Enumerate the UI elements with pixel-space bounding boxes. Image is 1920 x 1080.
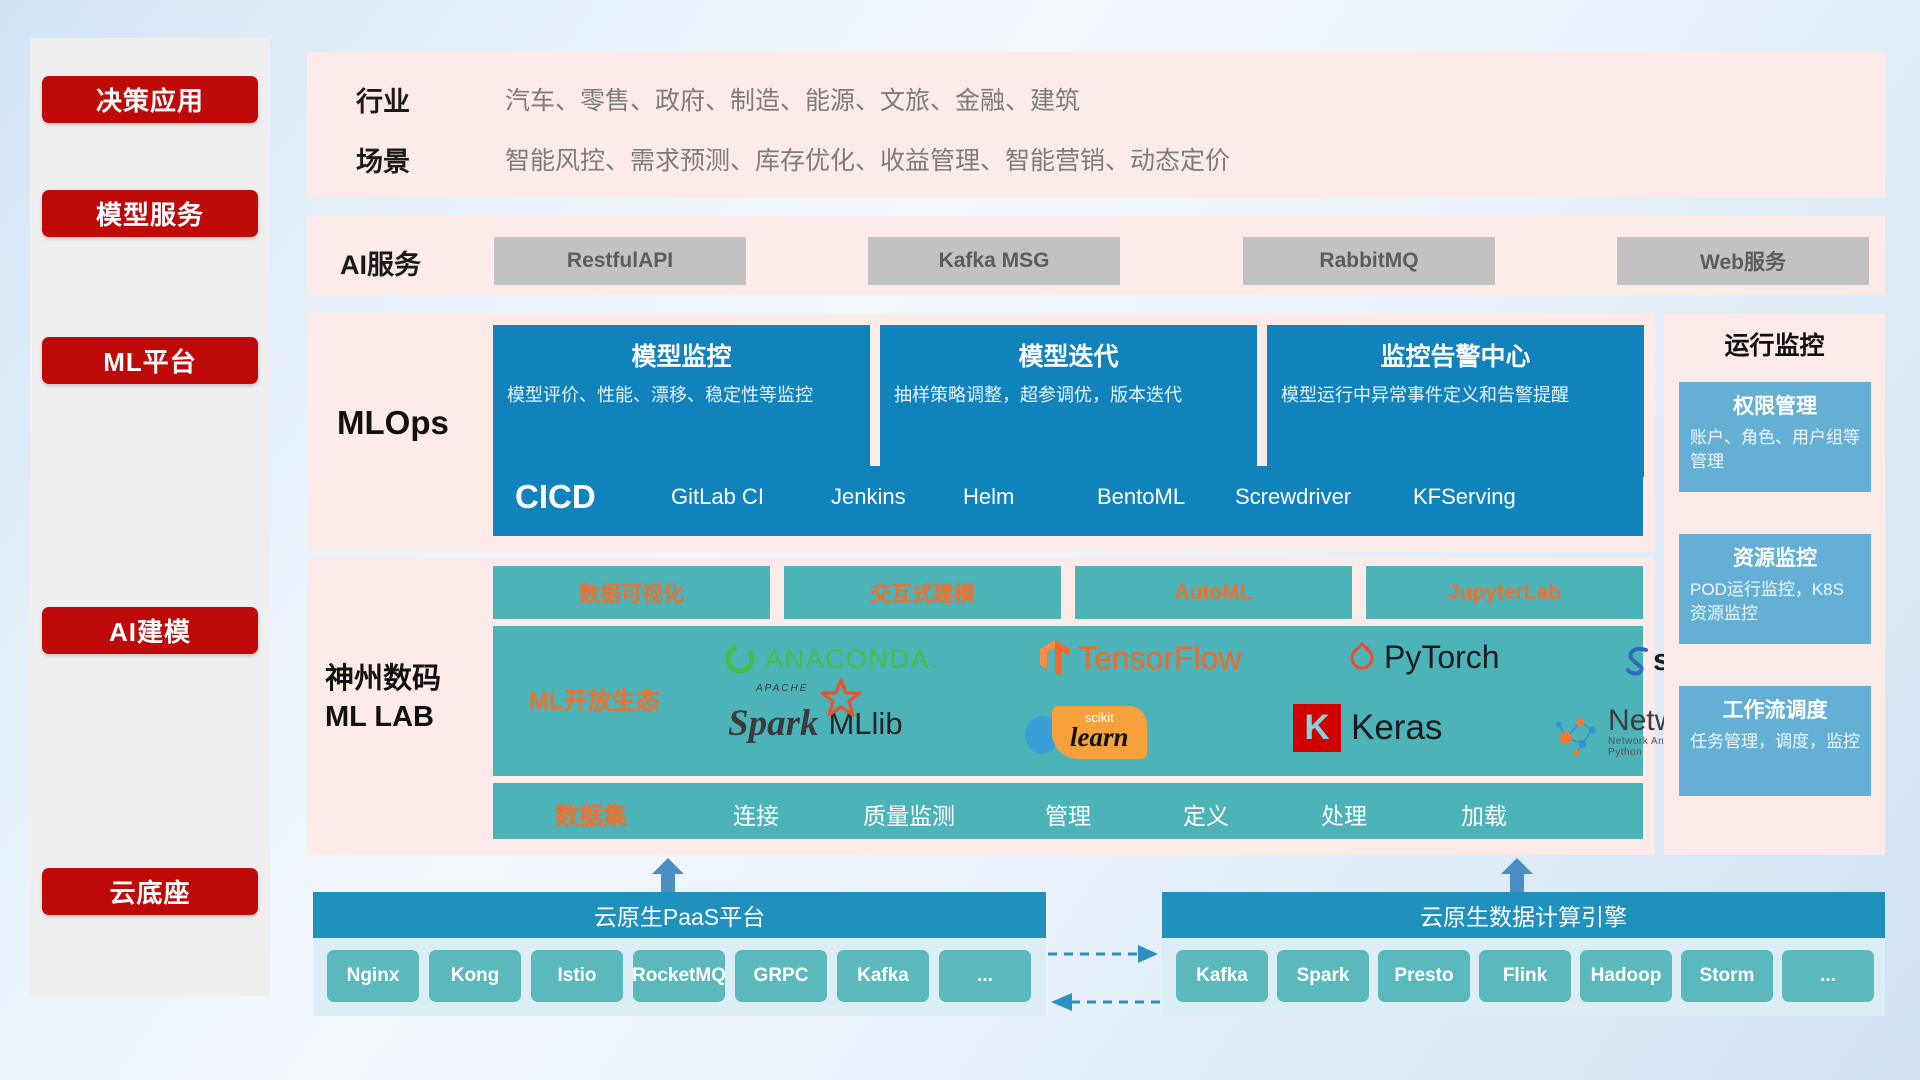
chip-label: Flink — [1503, 966, 1547, 987]
chip-label: Kafka — [857, 966, 909, 987]
ai-service-item-web[interactable]: Web服务 — [1617, 237, 1869, 285]
chip-label: Hadoop — [1591, 966, 1662, 987]
cicd-bar: CICD GitLab CI Jenkins Helm BentoML Scre… — [493, 466, 1643, 536]
scikit-learn-orange-blob: scikit learn — [1052, 706, 1147, 759]
paas-chip-rocketmq[interactable]: RocketMQ — [633, 950, 725, 1002]
up-arrow-icon-data-engine — [1497, 856, 1537, 896]
ml-ecosystem-box: ML开放生态 ANACONDA. TensorFlow PyTorch — [493, 626, 1643, 776]
lab-tool-interactive-modeling[interactable]: 交互式建模 — [784, 566, 1061, 619]
ml-ecosystem-label: ML开放生态 — [529, 681, 660, 716]
monitor-card-title: 资源监控 — [1690, 542, 1860, 572]
monitor-card-desc: 账户、角色、用户组等管理 — [1690, 426, 1860, 474]
lab-tool-label: JupyterLab — [1448, 581, 1561, 605]
engine-chip-flink[interactable]: Flink — [1479, 950, 1571, 1002]
logo-anaconda: ANACONDA. — [723, 642, 939, 676]
monitor-card-resource[interactable]: 资源监控 POD运行监控，K8S资源监控 — [1679, 534, 1871, 644]
stage-chip-decision[interactable]: 决策应用 — [42, 76, 258, 123]
cicd-item-label: Jenkins — [831, 484, 906, 509]
cicd-item-label: KFServing — [1413, 484, 1516, 509]
lab-tool-jupyterlab[interactable]: JupyterLab — [1366, 566, 1643, 619]
paas-platform-header[interactable]: 云原生PaaS平台 — [313, 892, 1046, 938]
stage-label: ML平台 — [103, 342, 197, 379]
ai-service-item-restfulapi[interactable]: RestfulAPI — [494, 237, 746, 285]
paas-chip-more[interactable]: ... — [939, 950, 1031, 1002]
ai-service-item-label: Web服务 — [1700, 246, 1786, 276]
pytorch-icon — [1348, 641, 1376, 675]
tensorflow-icon — [1038, 638, 1072, 678]
learn-text: learn — [1070, 724, 1129, 751]
paas-chip-kong[interactable]: Kong — [429, 950, 521, 1002]
ml-lab-label: 神州数码 ML LAB — [325, 660, 441, 737]
logo-pytorch: PyTorch — [1348, 639, 1500, 676]
dataset-item-label: 质量监测 — [863, 803, 955, 829]
stage-label: 云底座 — [109, 873, 190, 910]
mlops-card-alert-center[interactable]: 监控告警中心 模型运行中异常事件定义和告警提醒 — [1267, 325, 1644, 477]
stage-label: 模型服务 — [96, 195, 204, 232]
logo-spark-mllib: APACHE Spark MLlib — [728, 702, 903, 745]
mlops-card-title: 模型监控 — [507, 337, 856, 373]
dataset-item-label: 定义 — [1183, 803, 1229, 829]
dataset-bar: 数据集 连接 质量监测 管理 定义 处理 加载 — [493, 783, 1643, 839]
ml-lab-label-line2: ML LAB — [325, 698, 441, 736]
dataset-item-label: 处理 — [1321, 803, 1367, 829]
logo-keras-text: Keras — [1351, 708, 1442, 748]
dataset-item-load[interactable]: 加载 — [1461, 797, 1507, 831]
chip-label: Nginx — [347, 966, 400, 987]
cicd-label: CICD — [515, 478, 596, 516]
chip-label: Kafka — [1196, 966, 1248, 987]
scenario-label: 场景 — [356, 140, 410, 179]
industry-label: 行业 — [356, 80, 410, 119]
cicd-item-gitlab-ci[interactable]: GitLab CI — [671, 484, 791, 510]
monitoring-title: 运行监控 — [1664, 326, 1885, 362]
mlops-card-model-iteration[interactable]: 模型迭代 抽样策略调整，超参调优，版本迭代 — [880, 325, 1257, 477]
chip-label: Spark — [1297, 966, 1350, 987]
scenario-values: 智能风控、需求预测、库存优化、收益管理、智能营销、动态定价 — [505, 141, 1230, 177]
mlops-card-model-monitor[interactable]: 模型监控 模型评价、性能、漂移、稳定性等监控 — [493, 325, 870, 477]
stage-chip-ai-modeling[interactable]: AI建模 — [42, 607, 258, 654]
data-engine-title: 云原生数据计算引擎 — [1420, 898, 1627, 932]
cicd-item-screwdriver[interactable]: Screwdriver — [1235, 484, 1355, 510]
engine-chip-storm[interactable]: Storm — [1681, 950, 1773, 1002]
paas-chip-istio[interactable]: Istio — [531, 950, 623, 1002]
ai-service-label: AI服务 — [340, 243, 421, 282]
stage-label: 决策应用 — [96, 81, 204, 118]
chip-label: ... — [1820, 966, 1836, 987]
logo-tensorflow-text: TensorFlow — [1078, 640, 1242, 677]
monitor-card-permission[interactable]: 权限管理 账户、角色、用户组等管理 — [1679, 382, 1871, 492]
mlops-card-title: 模型迭代 — [894, 337, 1243, 373]
sas-icon — [1623, 644, 1653, 676]
cicd-item-kfserving[interactable]: KFServing — [1413, 484, 1533, 510]
lab-tool-data-visualization[interactable]: 数据可视化 — [493, 566, 770, 619]
dataset-item-manage[interactable]: 管理 — [1045, 797, 1091, 831]
keras-icon: K — [1293, 704, 1341, 752]
ai-service-item-label: RabbitMQ — [1319, 249, 1418, 273]
engine-chip-hadoop[interactable]: Hadoop — [1580, 950, 1672, 1002]
lab-tool-label: 交互式建模 — [870, 578, 975, 608]
cicd-item-jenkins[interactable]: Jenkins — [831, 484, 951, 510]
logo-keras: K Keras — [1293, 704, 1442, 752]
dataset-item-quality[interactable]: 质量监测 — [863, 797, 955, 831]
mlops-card-desc: 抽样策略调整，超参调优，版本迭代 — [894, 382, 1243, 408]
lab-tool-label: AutoML — [1174, 581, 1252, 605]
monitor-card-desc: 任务管理，调度，监控 — [1690, 730, 1860, 754]
industry-values: 汽车、零售、政府、制造、能源、文旅、金融、建筑 — [505, 81, 1080, 117]
ml-lab-label-line1: 神州数码 — [325, 660, 441, 698]
logo-pytorch-text: PyTorch — [1384, 639, 1500, 676]
cicd-item-label: Screwdriver — [1235, 484, 1351, 509]
engine-chip-more[interactable]: ... — [1782, 950, 1874, 1002]
ai-service-item-kafka[interactable]: Kafka MSG — [868, 237, 1120, 285]
stage-rail: 决策应用 模型服务 ML平台 AI建模 云底座 — [30, 38, 270, 996]
paas-chip-grpc[interactable]: GRPC — [735, 950, 827, 1002]
logo-tensorflow: TensorFlow — [1038, 638, 1242, 678]
spark-apache-text: APACHE — [756, 683, 808, 694]
chip-label: Istio — [557, 966, 596, 987]
chip-label: GRPC — [754, 966, 809, 987]
dataset-label: 数据集 — [555, 796, 627, 831]
monitor-card-title: 权限管理 — [1690, 390, 1860, 420]
cicd-item-helm[interactable]: Helm — [963, 484, 1083, 510]
cicd-item-label: BentoML — [1097, 484, 1185, 509]
stage-chip-cloud-base[interactable]: 云底座 — [42, 868, 258, 915]
dataset-item-connect[interactable]: 连接 — [733, 797, 779, 831]
spark-logo-group: APACHE Spark — [728, 702, 818, 745]
logo-anaconda-text: ANACONDA. — [765, 644, 939, 675]
engine-chip-presto[interactable]: Presto — [1378, 950, 1470, 1002]
dataset-item-process[interactable]: 处理 — [1321, 797, 1367, 831]
data-engine-header[interactable]: 云原生数据计算引擎 — [1162, 892, 1885, 938]
anaconda-icon — [723, 642, 757, 676]
cicd-item-bentoml[interactable]: BentoML — [1097, 484, 1217, 510]
stage-chip-model-service[interactable]: 模型服务 — [42, 190, 258, 237]
mlops-card-desc: 模型运行中异常事件定义和告警提醒 — [1281, 382, 1630, 408]
logo-spark-text: Spark — [728, 703, 818, 744]
architecture-diagram: 决策应用 模型服务 ML平台 AI建模 云底座 行业 汽车、零售、政府、制造、能… — [0, 0, 1920, 1080]
logo-scikit-learn: scikit learn — [1018, 706, 1147, 759]
mlops-card-title: 监控告警中心 — [1281, 337, 1630, 373]
stage-chip-ml-platform[interactable]: ML平台 — [42, 337, 258, 384]
lab-tool-automl[interactable]: AutoML — [1075, 566, 1352, 619]
chip-label: ... — [977, 966, 993, 987]
monitor-card-workflow[interactable]: 工作流调度 任务管理，调度，监控 — [1679, 686, 1871, 796]
dashed-arrow-right-icon — [1046, 940, 1162, 1020]
paas-chip-nginx[interactable]: Nginx — [327, 950, 419, 1002]
ai-service-item-label: Kafka MSG — [939, 249, 1050, 273]
engine-chip-kafka[interactable]: Kafka — [1176, 950, 1268, 1002]
paas-chip-kafka[interactable]: Kafka — [837, 950, 929, 1002]
chip-label: Storm — [1700, 966, 1755, 987]
networkx-icon — [1553, 708, 1602, 756]
monitor-card-desc: POD运行监控，K8S资源监控 — [1690, 578, 1860, 626]
spark-star-icon — [820, 677, 862, 717]
stage-label: AI建模 — [109, 612, 191, 649]
lab-tool-label: 数据可视化 — [579, 578, 684, 608]
paas-platform-title: 云原生PaaS平台 — [594, 898, 765, 932]
chip-label: RocketMQ — [632, 966, 726, 987]
dataset-item-label: 管理 — [1045, 803, 1091, 829]
chip-label: Presto — [1394, 966, 1453, 987]
engine-chip-spark[interactable]: Spark — [1277, 950, 1369, 1002]
mlops-card-desc: 模型评价、性能、漂移、稳定性等监控 — [507, 382, 856, 408]
mlops-label: MLOps — [337, 404, 449, 442]
cicd-item-label: Helm — [963, 484, 1014, 509]
monitor-card-title: 工作流调度 — [1690, 694, 1860, 724]
ai-service-item-label: RestfulAPI — [567, 249, 673, 273]
dataset-item-label: 连接 — [733, 803, 779, 829]
cicd-item-label: GitLab CI — [671, 484, 764, 509]
ai-service-item-rabbitmq[interactable]: RabbitMQ — [1243, 237, 1495, 285]
dataset-item-label: 加载 — [1461, 803, 1507, 829]
dataset-item-define[interactable]: 定义 — [1183, 797, 1229, 831]
up-arrow-icon-paas — [648, 856, 688, 896]
chip-label: Kong — [451, 966, 500, 987]
